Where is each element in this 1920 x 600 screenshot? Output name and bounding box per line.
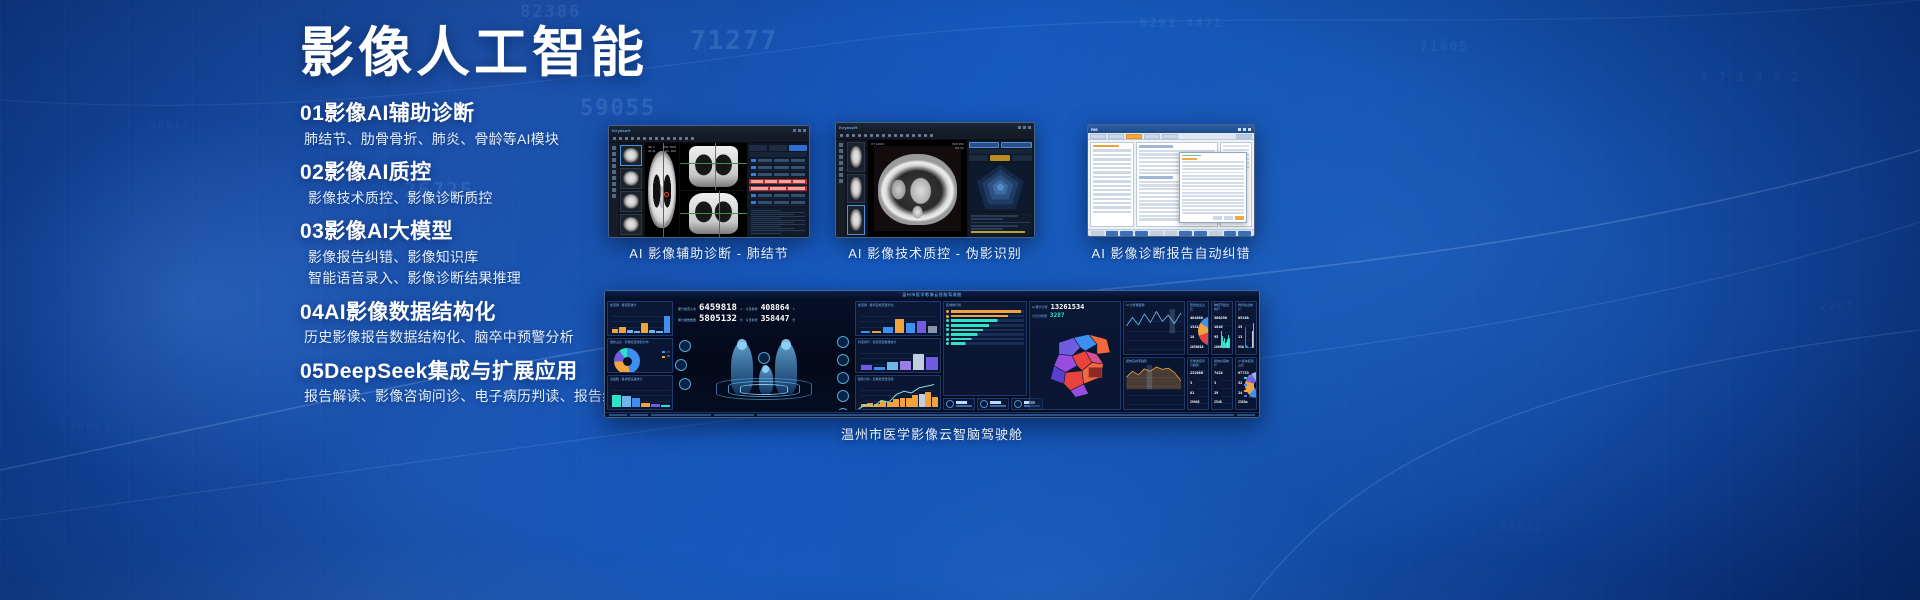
- screenshot-ai-artifact-qc[interactable]: Keyasoft CT 120kV WW 350WL 40: [835, 122, 1035, 238]
- score-option-c: [1012, 155, 1032, 161]
- series-thumbnail-list[interactable]: [845, 140, 867, 237]
- device-icon: [980, 400, 988, 408]
- area-chart: [1124, 364, 1184, 390]
- metric-list: 97733 52 24 2383a: [1238, 369, 1242, 408]
- thumbnail-item[interactable]: [620, 168, 642, 189]
- ai-correction-dialog[interactable]: [1179, 152, 1247, 223]
- stat-label: 累计报告数量: [678, 318, 696, 322]
- bar-chart: [861, 349, 937, 370]
- chart-card-region-ranking[interactable]: 区域排行榜: [943, 301, 1027, 396]
- card-body: 366290 1840 95 1009796: [1212, 312, 1232, 354]
- chart-card-module-usage[interactable]: AI 模块使用占比 97733 52 24 2383a: [1235, 357, 1257, 411]
- metric-value: 18: [1190, 335, 1195, 339]
- stat-row: 累计检查人次 6459818 人 今日新增 408864 人: [678, 303, 850, 313]
- pie-chart: [1197, 313, 1206, 352]
- app-logo: Keyasoft: [612, 128, 631, 133]
- tab-qc-detail: [1001, 142, 1032, 148]
- ranking-row[interactable]: [946, 338, 1024, 341]
- thumbnail-item[interactable]: [620, 214, 642, 235]
- report-app: RIS: [1088, 125, 1254, 236]
- metric-value: 29903: [1190, 400, 1195, 404]
- page-title: 影像人工智能: [300, 24, 730, 82]
- nodule-marker[interactable]: [664, 192, 669, 197]
- card-body: 85108 25 13 93A: [1236, 312, 1256, 354]
- chart-card-qc-score-trend[interactable]: 影像质控评分趋势 232080 3 81 29903: [1187, 357, 1209, 411]
- tab-qc-result: [969, 142, 1000, 148]
- bar-chart: [612, 312, 670, 333]
- ranking-row[interactable]: [946, 333, 1024, 336]
- kpi-row: [943, 398, 1027, 410]
- card-body: [1124, 364, 1184, 410]
- metric-value: 29: [1214, 391, 1219, 395]
- dashboard-caption: 温州市医学影像云智脑驾驶舱: [604, 424, 1260, 443]
- hologram-icons-left: [679, 340, 691, 390]
- metric-list: 366290 1840 95 1009796: [1214, 313, 1219, 352]
- ai-stat-label: AI 累计分析: [1032, 305, 1048, 309]
- bar-chart: [612, 386, 670, 407]
- chart-legend: 肺结节 骨折 肺炎 骨龄: [1244, 374, 1253, 399]
- ranking-row[interactable]: [946, 328, 1024, 331]
- dashboard-column-map: AI 累计分析 13261534 今日分析量 3287: [1029, 301, 1121, 410]
- crosshair-vertical: [663, 143, 664, 237]
- doctor-icon: [1014, 400, 1022, 408]
- toolbar[interactable]: [609, 135, 809, 143]
- view-annotation: SE 3IM 41: [648, 145, 656, 153]
- app-titlebar: Keyasoft: [609, 126, 809, 135]
- dashboard-column-ai-modules: 阳性检出占比 464080 1341 18 1050016: [1187, 301, 1257, 410]
- screenshot-imaging-cloud-dashboard[interactable]: 温州市医学影像云智脑驾驶舱 检查量 - 各院区统计: [604, 290, 1260, 418]
- radar-chart: [969, 163, 1032, 211]
- card-body: [856, 308, 940, 335]
- app-logo: Keyasoft: [839, 125, 858, 130]
- card-title: 报告纠错统计: [1212, 358, 1232, 368]
- window-controls[interactable]: [1238, 128, 1251, 131]
- donut-chart: 肺结节 骨折 肺炎 骨龄: [1244, 369, 1254, 408]
- metric-list: 464080 1341 18 1050016: [1190, 313, 1195, 352]
- bar-chart: [1245, 313, 1254, 352]
- ranking-row[interactable]: [946, 319, 1024, 322]
- donut-chart: [614, 348, 640, 373]
- axial-ct-view[interactable]: CT 120kV WW 350WL 40: [867, 140, 967, 237]
- ai-stat-label: 今日分析量: [1032, 314, 1047, 318]
- metric-value: 13: [1238, 335, 1243, 339]
- tab-item-active: [1126, 134, 1142, 139]
- stat-row: 累计报告数量 5805132 份 今日新增 358447 份: [678, 314, 850, 324]
- line-chart: [1124, 308, 1184, 334]
- card-title: 肺结节检出统计: [1212, 302, 1232, 312]
- app-logo: RIS: [1091, 127, 1098, 132]
- measure-button: [769, 145, 787, 151]
- score-option-b: [990, 155, 1010, 161]
- toolbar[interactable]: [836, 132, 1034, 140]
- metric-value: 1009796: [1214, 345, 1219, 349]
- axial-ct-view[interactable]: SE 3IM 41 WW 1500WL -600: [644, 143, 679, 237]
- viewer-body: SE 3IM 41 WW 1500WL -600: [609, 143, 809, 237]
- chart-card-fracture-detection[interactable]: 骨折检出统计 85108 25 13 93A: [1235, 301, 1257, 355]
- series-thumbnail-list[interactable]: [618, 143, 644, 237]
- card-body: 97733 52 24 2383a 肺结节: [1236, 368, 1256, 410]
- thumbnail-item[interactable]: [847, 174, 865, 204]
- stat-rows: 累计检查人次 6459818 人 今日新增 408864 人 累计报告数量 58…: [675, 301, 853, 326]
- chart-card-dept-compare[interactable]: 检查量 - 各科室检查量对比: [855, 301, 941, 336]
- dashboard: 温州市医学影像云智脑驾驶舱 检查量 - 各院区统计: [605, 291, 1259, 417]
- hero-stats-panel: 累计检查人次 6459818 人 今日新增 408864 人 累计报告数量 58…: [675, 301, 853, 410]
- thumbnail-item[interactable]: [847, 205, 865, 235]
- metric-value: 1341: [1190, 325, 1195, 329]
- ranking-row[interactable]: [946, 324, 1024, 327]
- app-titlebar: Keyasoft: [836, 123, 1034, 132]
- line-chart: [1197, 369, 1206, 408]
- dashboard-column-charts: 检查量 - 各科室检查量对比 科室排行 - 检查项目数量统计: [855, 301, 941, 410]
- card-body: [856, 382, 940, 409]
- panel-subtitle: [969, 149, 1032, 154]
- dashboard-body: 检查量 - 各院区统计 报告占比 - 影像检查类别分布: [605, 299, 1259, 412]
- screenshot-caption-1: AI 影像辅助诊断 - 肺结节: [608, 243, 810, 262]
- thumbnail-item[interactable]: [620, 145, 642, 166]
- card-body: [1030, 320, 1120, 409]
- chart-card-nodule-detection[interactable]: 肺结节检出统计 366290 1840 95 1009796: [1211, 301, 1233, 355]
- ct-viewer-app: Keyasoft SE 3IM 41 WW 1500WL -600: [609, 126, 809, 237]
- patient-tree-panel[interactable]: [1090, 142, 1134, 227]
- chart-card-report-share[interactable]: 报告占比 - 影像检查类别分布 CT DR: [607, 338, 673, 373]
- stat-label: 今日新增: [746, 307, 758, 311]
- finding-row[interactable]: [749, 158, 807, 164]
- panel-subtabs[interactable]: [749, 152, 807, 157]
- metric-value: 2383a: [1238, 400, 1242, 404]
- metric-list: 7428 3 29 2548: [1214, 369, 1219, 408]
- card-title: 骨折检出统计: [1236, 302, 1256, 312]
- stat-value: 6459818: [699, 303, 737, 313]
- finding-row[interactable]: [749, 200, 807, 206]
- figure-head-child: [762, 365, 769, 373]
- view-annotation: WW 1500WL -600: [663, 145, 676, 153]
- region-map[interactable]: [1034, 324, 1117, 406]
- metric-value: 95: [1214, 335, 1219, 339]
- hologram-icon-center: [758, 352, 770, 364]
- screenshot-caption-2: AI 影像技术质控 - 伪影识别: [835, 243, 1035, 262]
- card-body: [856, 345, 940, 372]
- finding-detail-text: [749, 208, 807, 235]
- ai-stat-value: 13261534: [1051, 303, 1085, 311]
- hospital-icon: [946, 400, 954, 408]
- tab-bar[interactable]: [1088, 133, 1254, 140]
- lung-image: [648, 151, 677, 228]
- chest-ct-image: [878, 154, 957, 226]
- tool-rail[interactable]: [609, 143, 618, 237]
- dashboard-column-ranking: 区域排行榜: [943, 301, 1027, 410]
- figure-head-left: [737, 339, 747, 350]
- card-body: [944, 308, 1026, 395]
- footer-button-bar[interactable]: [1088, 229, 1254, 236]
- tab-item: [1144, 134, 1160, 139]
- figure-head-right: [781, 339, 791, 350]
- score-option-a: [969, 155, 989, 161]
- finding-row-alert[interactable]: [749, 179, 807, 185]
- dashboard-footer: [605, 412, 1259, 417]
- metric-value: 232080: [1190, 371, 1195, 375]
- dashboard-column-hero: 累计检查人次 6459818 人 今日新增 408864 人 累计报告数量 58…: [675, 301, 853, 410]
- stat-unit: 人: [792, 307, 795, 311]
- stat-unit: 人: [740, 307, 743, 311]
- qc-findings-text: [969, 213, 1032, 235]
- chart-card-completion-trend[interactable]: 报告完成率趋势: [1123, 357, 1185, 411]
- tab-item: [1090, 134, 1106, 139]
- ai-findings-panel[interactable]: [747, 143, 809, 237]
- hologram-icons-right: [837, 336, 849, 410]
- screenshot-caption-3: AI 影像诊断报告自动纠错: [1080, 243, 1262, 262]
- metric-value: 2548: [1214, 400, 1219, 404]
- card-subtitle: 今日分析量 3287: [1030, 311, 1120, 320]
- finding-row[interactable]: [749, 165, 807, 171]
- card-title: 影像质控评分趋势: [1188, 358, 1208, 368]
- metric-value: 366290: [1214, 316, 1219, 320]
- qc-viewer-app: Keyasoft CT 120kV WW 350WL 40: [836, 123, 1034, 237]
- chart-card-volume-trend[interactable]: 趋势分析 - 近期检查量走势: [855, 375, 941, 410]
- card-body: 464080 1341 18 1050016: [1188, 312, 1208, 354]
- score-toggle-group[interactable]: [969, 155, 1032, 161]
- secondary-views: [679, 143, 747, 237]
- card-body: [608, 308, 672, 335]
- chart-card-dept-ranking[interactable]: 科室排行 - 检查项目数量统计: [855, 338, 941, 373]
- chart-card-device-count[interactable]: 设备数 - 各类型设备统计: [607, 375, 673, 410]
- metric-value: 85108: [1238, 316, 1243, 320]
- dashboard-column-left: 检查量 - 各院区统计 报告占比 - 影像检查类别分布: [607, 301, 673, 410]
- chart-card-ai-trend[interactable]: AI 分析量趋势: [1123, 301, 1185, 355]
- viewer-body: CT 120kV WW 350WL 40: [836, 140, 1034, 237]
- screenshot-ai-lung-nodule[interactable]: Keyasoft SE 3IM 41 WW 1500WL -600: [608, 125, 810, 238]
- window-controls[interactable]: [1018, 126, 1031, 129]
- metric-value: 25: [1238, 325, 1243, 329]
- card-body: [1124, 308, 1184, 354]
- metric-value: 1840: [1214, 325, 1219, 329]
- tool-rail[interactable]: [836, 140, 845, 237]
- card-body: CT DR: [608, 345, 672, 372]
- coronal-view[interactable]: [680, 143, 747, 190]
- thumbnail-item[interactable]: [847, 142, 865, 172]
- app-titlebar: RIS: [1088, 125, 1254, 133]
- bar-chart: [1221, 313, 1230, 352]
- dashboard-header-title: 温州市医学影像云智脑驾驶舱: [902, 292, 962, 298]
- ai-stat-value: 3287: [1050, 312, 1064, 319]
- ai-module-row-top: 阳性检出占比 464080 1341 18 1050016: [1187, 301, 1257, 355]
- stat-unit: 份: [740, 318, 743, 322]
- hologram-ring-inner: [740, 384, 788, 395]
- ai-module-row-bottom: 影像质控评分趋势 232080 3 81 29903: [1187, 357, 1257, 411]
- reset-button: [749, 145, 767, 151]
- chart-card-report-correction[interactable]: 报告纠错统计 7428 3 29 2548: [1211, 357, 1233, 411]
- metric-value: 3: [1190, 381, 1195, 385]
- kpi-card[interactable]: [943, 398, 975, 410]
- screenshot-report-autocorrect[interactable]: RIS: [1087, 124, 1255, 237]
- metric-value: 7428: [1214, 371, 1219, 375]
- finding-row[interactable]: [749, 172, 807, 178]
- metric-list: 85108 25 13 93A: [1238, 313, 1243, 352]
- ranking-row[interactable]: [946, 315, 1024, 318]
- kpi-card[interactable]: [977, 398, 1009, 410]
- stat-value: 408864: [761, 303, 790, 312]
- panel-action-buttons[interactable]: [749, 145, 807, 151]
- feature-description-2: 智能语音录入、影像诊断结果推理: [308, 268, 730, 290]
- ranking-row[interactable]: [946, 342, 1024, 345]
- hologram-illustration: [675, 326, 853, 410]
- finding-row-alert[interactable]: [749, 186, 807, 192]
- bar-chart: [861, 312, 937, 333]
- stat-label: 累计检查人次: [678, 307, 696, 311]
- metric-value: 3: [1214, 381, 1219, 385]
- metric-value: 97733: [1238, 371, 1242, 375]
- view-annotation: WW 350WL 40: [952, 142, 964, 150]
- card-body: 232080 3 81 29903: [1188, 368, 1208, 410]
- metric-value: 464080: [1190, 316, 1195, 320]
- tab-item: [1108, 134, 1124, 139]
- card-title: AI 模块使用占比: [1236, 358, 1256, 368]
- chart-card-hospital-volume[interactable]: 检查量 - 各院区统计: [607, 301, 673, 336]
- metric-value: 24: [1238, 391, 1242, 395]
- dashboard-column-trends: AI 分析量趋势 报告完成率趋势: [1123, 301, 1185, 410]
- metric-value: 1050016: [1190, 345, 1195, 349]
- card-title: 阳性检出占比: [1188, 302, 1208, 312]
- dialog-buttons[interactable]: [1182, 216, 1244, 220]
- stat-value: 358447: [761, 314, 790, 323]
- thumbnail-item[interactable]: [620, 191, 642, 212]
- panel-tabs[interactable]: [969, 142, 1032, 148]
- metric-value: 93A: [1238, 345, 1243, 349]
- qc-score-panel[interactable]: [967, 140, 1034, 237]
- trend-line: [856, 382, 940, 410]
- ai-diagnose-button: [789, 145, 807, 151]
- bar-chart: [1221, 369, 1230, 408]
- stat-unit: 份: [792, 318, 795, 322]
- metric-value: 52: [1238, 381, 1242, 385]
- sagittal-view[interactable]: [680, 191, 747, 238]
- map-tooltip: [1088, 367, 1101, 377]
- chart-card-positive-ratio[interactable]: 阳性检出占比 464080 1341 18 1050016: [1187, 301, 1209, 355]
- stat-value: 5805132: [699, 314, 737, 324]
- chart-card-region-map[interactable]: AI 累计分析 13261534 今日分析量 3287: [1029, 301, 1121, 410]
- ranking-row[interactable]: [946, 310, 1024, 313]
- view-annotation: CT 120kV: [871, 142, 884, 146]
- chart-legend: CT DR: [662, 351, 670, 359]
- dashboard-header: 温州市医学影像云智脑驾驶舱: [605, 291, 1259, 299]
- window-controls[interactable]: [793, 129, 806, 132]
- card-body: [608, 382, 672, 409]
- metric-list: 232080 3 81 29903: [1190, 369, 1195, 408]
- tab-item: [1162, 134, 1178, 139]
- metric-value: 81: [1190, 391, 1195, 395]
- card-body: 7428 3 29 2548: [1212, 368, 1232, 410]
- finding-row[interactable]: [749, 193, 807, 199]
- tab-item: [1236, 134, 1252, 139]
- stat-label: 今日新增: [746, 318, 758, 322]
